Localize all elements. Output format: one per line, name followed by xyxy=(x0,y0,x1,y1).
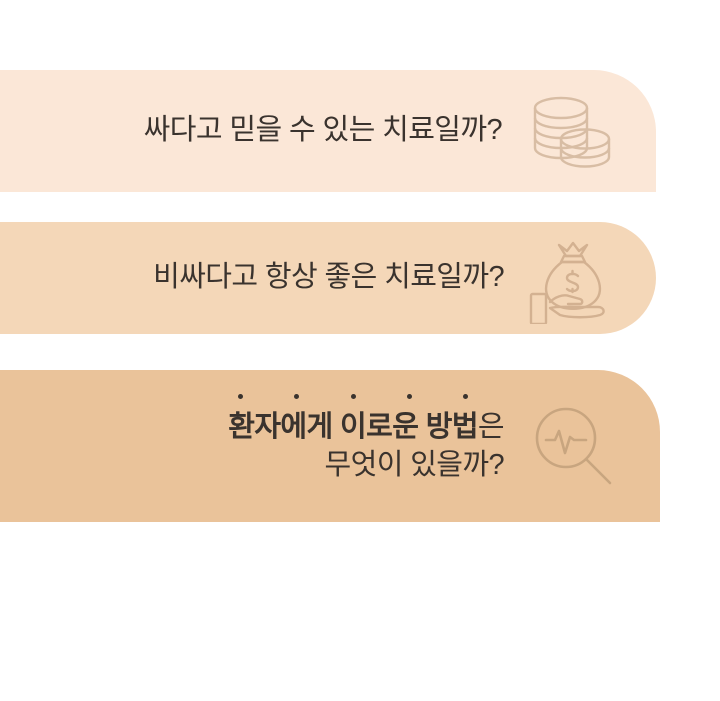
infographic-canvas: 싸다고 믿을 수 있는 치료일까? 비싸다고 항상 좋은 치료일까? xyxy=(0,0,720,701)
coin-stack-icon xyxy=(528,91,614,171)
money-bag-in-hand-icon xyxy=(526,232,616,324)
magnifier-pulse-icon xyxy=(528,400,620,492)
beneficial-line-2: 무엇이 있을까? xyxy=(228,446,504,484)
beneficial-line-1: 환자에게 이로운 방법은 xyxy=(228,408,504,446)
beneficial-emphasis-run: 환자에게 이로운 방법 xyxy=(228,411,478,443)
question-bar-expensive: 비싸다고 항상 좋은 치료일까? xyxy=(0,222,656,334)
question-bar-expensive-text: 비싸다고 항상 좋은 치료일까? xyxy=(153,259,504,296)
question-bar-beneficial-text: 환자에게 이로운 방법은 무엇이 있을까? xyxy=(228,408,504,485)
beneficial-line-1-tail: 은 xyxy=(478,411,504,443)
question-bar-beneficial: 환자에게 이로운 방법은 무엇이 있을까? xyxy=(0,370,660,522)
question-bar-cheap: 싸다고 믿을 수 있는 치료일까? xyxy=(0,70,656,192)
emphasis-dots xyxy=(228,394,478,399)
beneficial-bold-text: 환자에게 이로운 방법 xyxy=(228,411,478,443)
question-bar-cheap-text: 싸다고 믿을 수 있는 치료일까? xyxy=(144,112,502,149)
